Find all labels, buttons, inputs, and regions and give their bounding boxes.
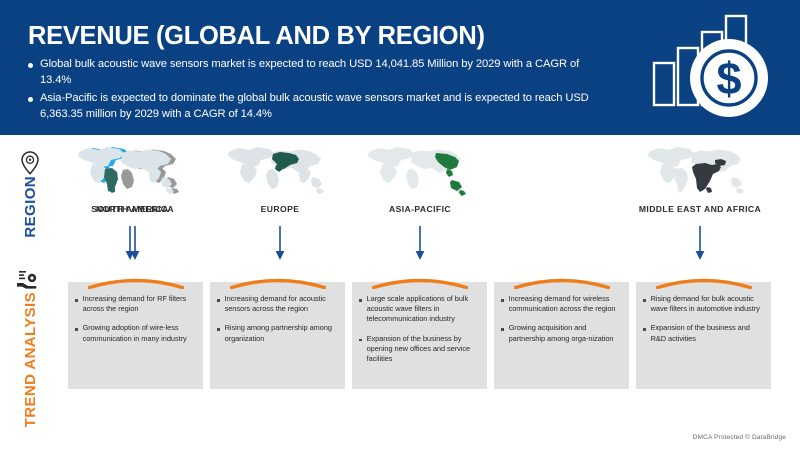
- world-map-europe-icon: [224, 144, 336, 200]
- card-bullet-item: Rising demand for bulk acoustic wave fil…: [643, 294, 763, 314]
- arrow-down-icon: [693, 224, 707, 262]
- map-wrap: [210, 143, 350, 201]
- bullet-dot-icon: [359, 339, 362, 342]
- region-label: MIDDLE EAST AND AFRICA: [630, 204, 770, 215]
- arrow-down-icon: [123, 224, 137, 262]
- infographic-page: REVENUE (GLOBAL AND BY REGION) Global bu…: [0, 0, 800, 450]
- bullet-dot-icon: [75, 299, 78, 302]
- bullet-dot-icon: [217, 328, 220, 331]
- card-arc-accent-icon: [514, 277, 610, 289]
- map-pin-icon: [19, 150, 41, 176]
- card-bullet-item: Growing acquisition and partnership amon…: [501, 323, 621, 343]
- map-wrap: [350, 143, 490, 201]
- arrow-wrap: [630, 224, 770, 262]
- bullet-dot-icon: [359, 299, 362, 302]
- header-bullet-text: Global bulk acoustic wave sensors market…: [40, 57, 613, 88]
- card-arc-accent-icon: [656, 277, 752, 289]
- rail-trend-analysis: TREND ANALYSIS: [2, 268, 58, 408]
- bullet-dot-icon: [643, 299, 646, 302]
- card-arc-accent-icon: [88, 277, 184, 289]
- bullet-dot-icon: [643, 328, 646, 331]
- card-arc-accent-icon: [230, 277, 326, 289]
- card-bullet-text: Growing adoption of wire-less communicat…: [83, 323, 195, 343]
- card-bullet-text: Increasing demand for wireless communica…: [509, 294, 621, 314]
- card-bullet-text: Rising demand for bulk acoustic wave fil…: [651, 294, 763, 314]
- card-bullet-item: Growing adoption of wire-less communicat…: [75, 323, 195, 343]
- region-label: SOUTH AMERICA: [60, 204, 200, 215]
- bullet-dot-icon: [501, 299, 504, 302]
- card-bullet-text: Increasing demand for RF filters across …: [83, 294, 195, 314]
- arrow-down-icon: [413, 224, 427, 262]
- card-bullet-list: Increasing demand for RF filters across …: [68, 282, 203, 359]
- bullet-dot-icon: [28, 97, 33, 102]
- bullet-dot-icon: [75, 328, 78, 331]
- region-row: NORTH AMERICA: [60, 143, 800, 268]
- card-bullet-text: Expansion of the business and R&D activi…: [651, 323, 763, 343]
- hand-gear-icon: [15, 268, 45, 292]
- region-label: EUROPE: [210, 204, 350, 215]
- header-bullet-item: Asia-Pacific is expected to dominate the…: [28, 91, 613, 122]
- footer-credit: DMCA Protected © DataBridge: [693, 434, 786, 441]
- svg-text:$: $: [716, 53, 741, 104]
- bullet-dot-icon: [217, 299, 220, 302]
- header-divider: [0, 133, 800, 135]
- map-wrap: [630, 143, 770, 201]
- header-bullet-text: Asia-Pacific is expected to dominate the…: [40, 91, 613, 122]
- region-col-asia-pacific: ASIA-PACIFIC: [350, 143, 490, 262]
- card-bullet-text: Growing acquisition and partnership amon…: [509, 323, 621, 343]
- card-bullet-text: Large scale applications of bulk acousti…: [367, 294, 479, 325]
- bullet-dot-icon: [28, 63, 33, 68]
- card-bullet-item: Rising among partnership among organizat…: [217, 323, 337, 343]
- arrow-wrap: [210, 224, 350, 262]
- card-bullet-item: Expansion of the business by opening new…: [359, 334, 479, 365]
- card-bullet-item: Increasing demand for acoustic sensors a…: [217, 294, 337, 314]
- arrow-down-icon: [273, 224, 287, 262]
- card-bullet-list: Large scale applications of bulk acousti…: [352, 282, 487, 379]
- rail-trend-label: TREND ANALYSIS: [22, 292, 39, 427]
- card-bullet-text: Rising among partnership among organizat…: [225, 323, 337, 343]
- world-map-asia-pacific-icon: [364, 144, 476, 200]
- trend-card: Increasing demand for wireless communica…: [494, 282, 629, 389]
- trend-card: Large scale applications of bulk acousti…: [352, 282, 487, 389]
- region-col-south-america: SOUTH AMERICA: [60, 143, 200, 262]
- region-label: ASIA-PACIFIC: [350, 204, 490, 215]
- region-col-middle-east-africa: MIDDLE EAST AND AFRICA: [630, 143, 770, 262]
- bullet-dot-icon: [501, 328, 504, 331]
- card-bullet-text: Increasing demand for acoustic sensors a…: [225, 294, 337, 314]
- card-bullet-list: Increasing demand for acoustic sensors a…: [210, 282, 345, 359]
- page-title: REVENUE (GLOBAL AND BY REGION): [28, 22, 485, 51]
- dollar-coin-bar-chart-icon: $: [652, 8, 782, 128]
- arrow-wrap: [60, 224, 200, 262]
- trend-card: Rising demand for bulk acoustic wave fil…: [636, 282, 771, 389]
- trend-card: Increasing demand for acoustic sensors a…: [210, 282, 345, 389]
- map-wrap: [60, 143, 200, 201]
- card-bullet-item: Large scale applications of bulk acousti…: [359, 294, 479, 325]
- trend-card-row: Increasing demand for RF filters across …: [60, 282, 800, 402]
- card-bullet-text: Expansion of the business by opening new…: [367, 334, 479, 365]
- card-arc-accent-icon: [372, 277, 468, 289]
- card-bullet-item: Increasing demand for RF filters across …: [75, 294, 195, 314]
- header-banner: REVENUE (GLOBAL AND BY REGION) Global bu…: [0, 0, 800, 133]
- rail-region: REGION: [2, 150, 58, 230]
- arrow-wrap: [350, 224, 490, 262]
- rail-region-label: REGION: [22, 176, 39, 238]
- header-bullet-list: Global bulk acoustic wave sensors market…: [28, 57, 613, 125]
- header-bullet-item: Global bulk acoustic wave sensors market…: [28, 57, 613, 88]
- card-bullet-item: Expansion of the business and R&D activi…: [643, 323, 763, 343]
- card-bullet-list: Increasing demand for wireless communica…: [494, 282, 629, 359]
- world-map-south-america-icon: [74, 144, 186, 200]
- region-col-europe: EUROPE: [210, 143, 350, 262]
- trend-card: Increasing demand for RF filters across …: [68, 282, 203, 389]
- card-bullet-list: Rising demand for bulk acoustic wave fil…: [636, 282, 771, 359]
- world-map-middle-east-africa-icon: [644, 144, 756, 200]
- card-bullet-item: Increasing demand for wireless communica…: [501, 294, 621, 314]
